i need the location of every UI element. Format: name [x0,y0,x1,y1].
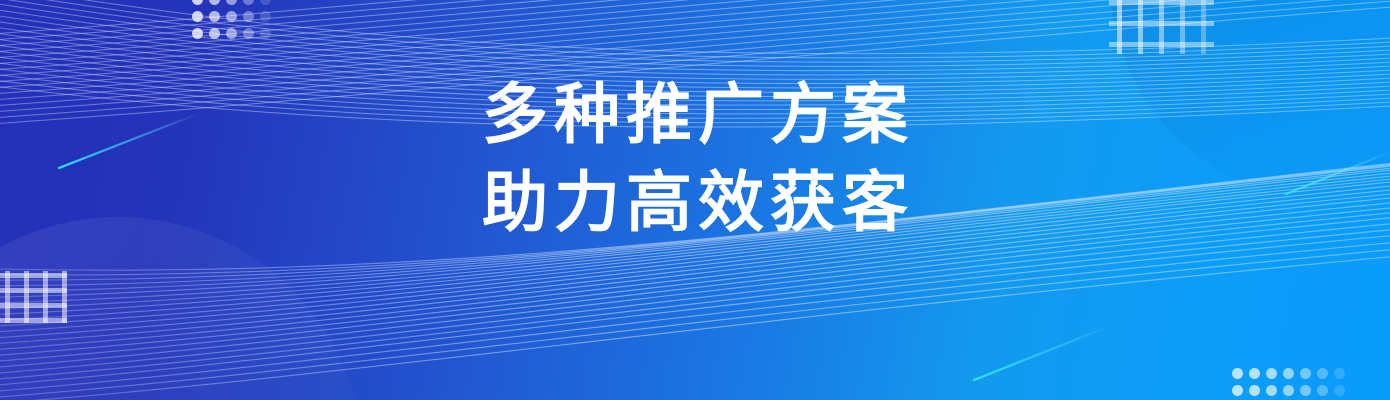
dot-grid-icon [243,0,254,5]
dot-grid-icon [260,28,271,39]
crosshatch-grid-icon [0,273,67,278]
dot-grid-icon [226,11,237,22]
crosshatch-grid-icon [0,303,67,308]
promotion-banner: 多种推广方案 助力高效获客 [0,0,1390,400]
crosshatch-grid-icon [1109,42,1214,47]
dot-grid-icon [1249,368,1260,379]
crosshatch-grid-icon [43,271,48,323]
dot-grid-icon [1283,368,1294,379]
dot-grid-icon [1300,385,1311,396]
crosshatch-grid-icon [0,288,67,293]
dot-grid-icon [192,11,203,22]
crosshatch-grid-icon [5,271,10,323]
dot-grid-icon [1317,385,1328,396]
dot-grid-icon [1232,385,1243,396]
dot-grid-icon [260,11,271,22]
dot-grid-icon [1334,368,1345,379]
dot-grid-icon [226,28,237,39]
streak-bottom [974,326,1110,380]
dot-grid-icon [192,28,203,39]
crosshatch-grid-icon [0,318,67,323]
crosshatch-grid-icon [62,271,67,323]
dot-grid-icon [243,28,254,39]
dot-grid-icon [1249,385,1260,396]
dot-grid-icon [243,11,254,22]
dot-grid-icon [209,28,220,39]
dot-grid-icon [1266,385,1277,396]
dot-grid-icon [226,0,237,5]
crosshatch-grid-icon [1109,21,1214,26]
dot-grid-icon [1232,368,1243,379]
dot-grid-icon [209,0,220,5]
crosshatch-grid-icon [24,271,29,323]
dot-grid-icon [1300,368,1311,379]
dot-grid-icon [1317,368,1328,379]
streak-left [59,113,200,168]
dot-grid-icon [260,0,271,5]
line-grid-bottom-left [0,271,76,331]
dot-grid-icon [1283,385,1294,396]
dot-grid-icon [1334,385,1345,396]
crosshatch-grid-icon [1109,0,1214,5]
streak-right [1286,152,1390,194]
dot-grid-icon [209,11,220,22]
dot-grid-bottom-right [1232,368,1362,400]
line-grid-top-right [1117,0,1213,62]
dot-grid-top-left [192,0,292,56]
dot-grid-icon [1266,368,1277,379]
dot-grid-icon [192,0,203,5]
